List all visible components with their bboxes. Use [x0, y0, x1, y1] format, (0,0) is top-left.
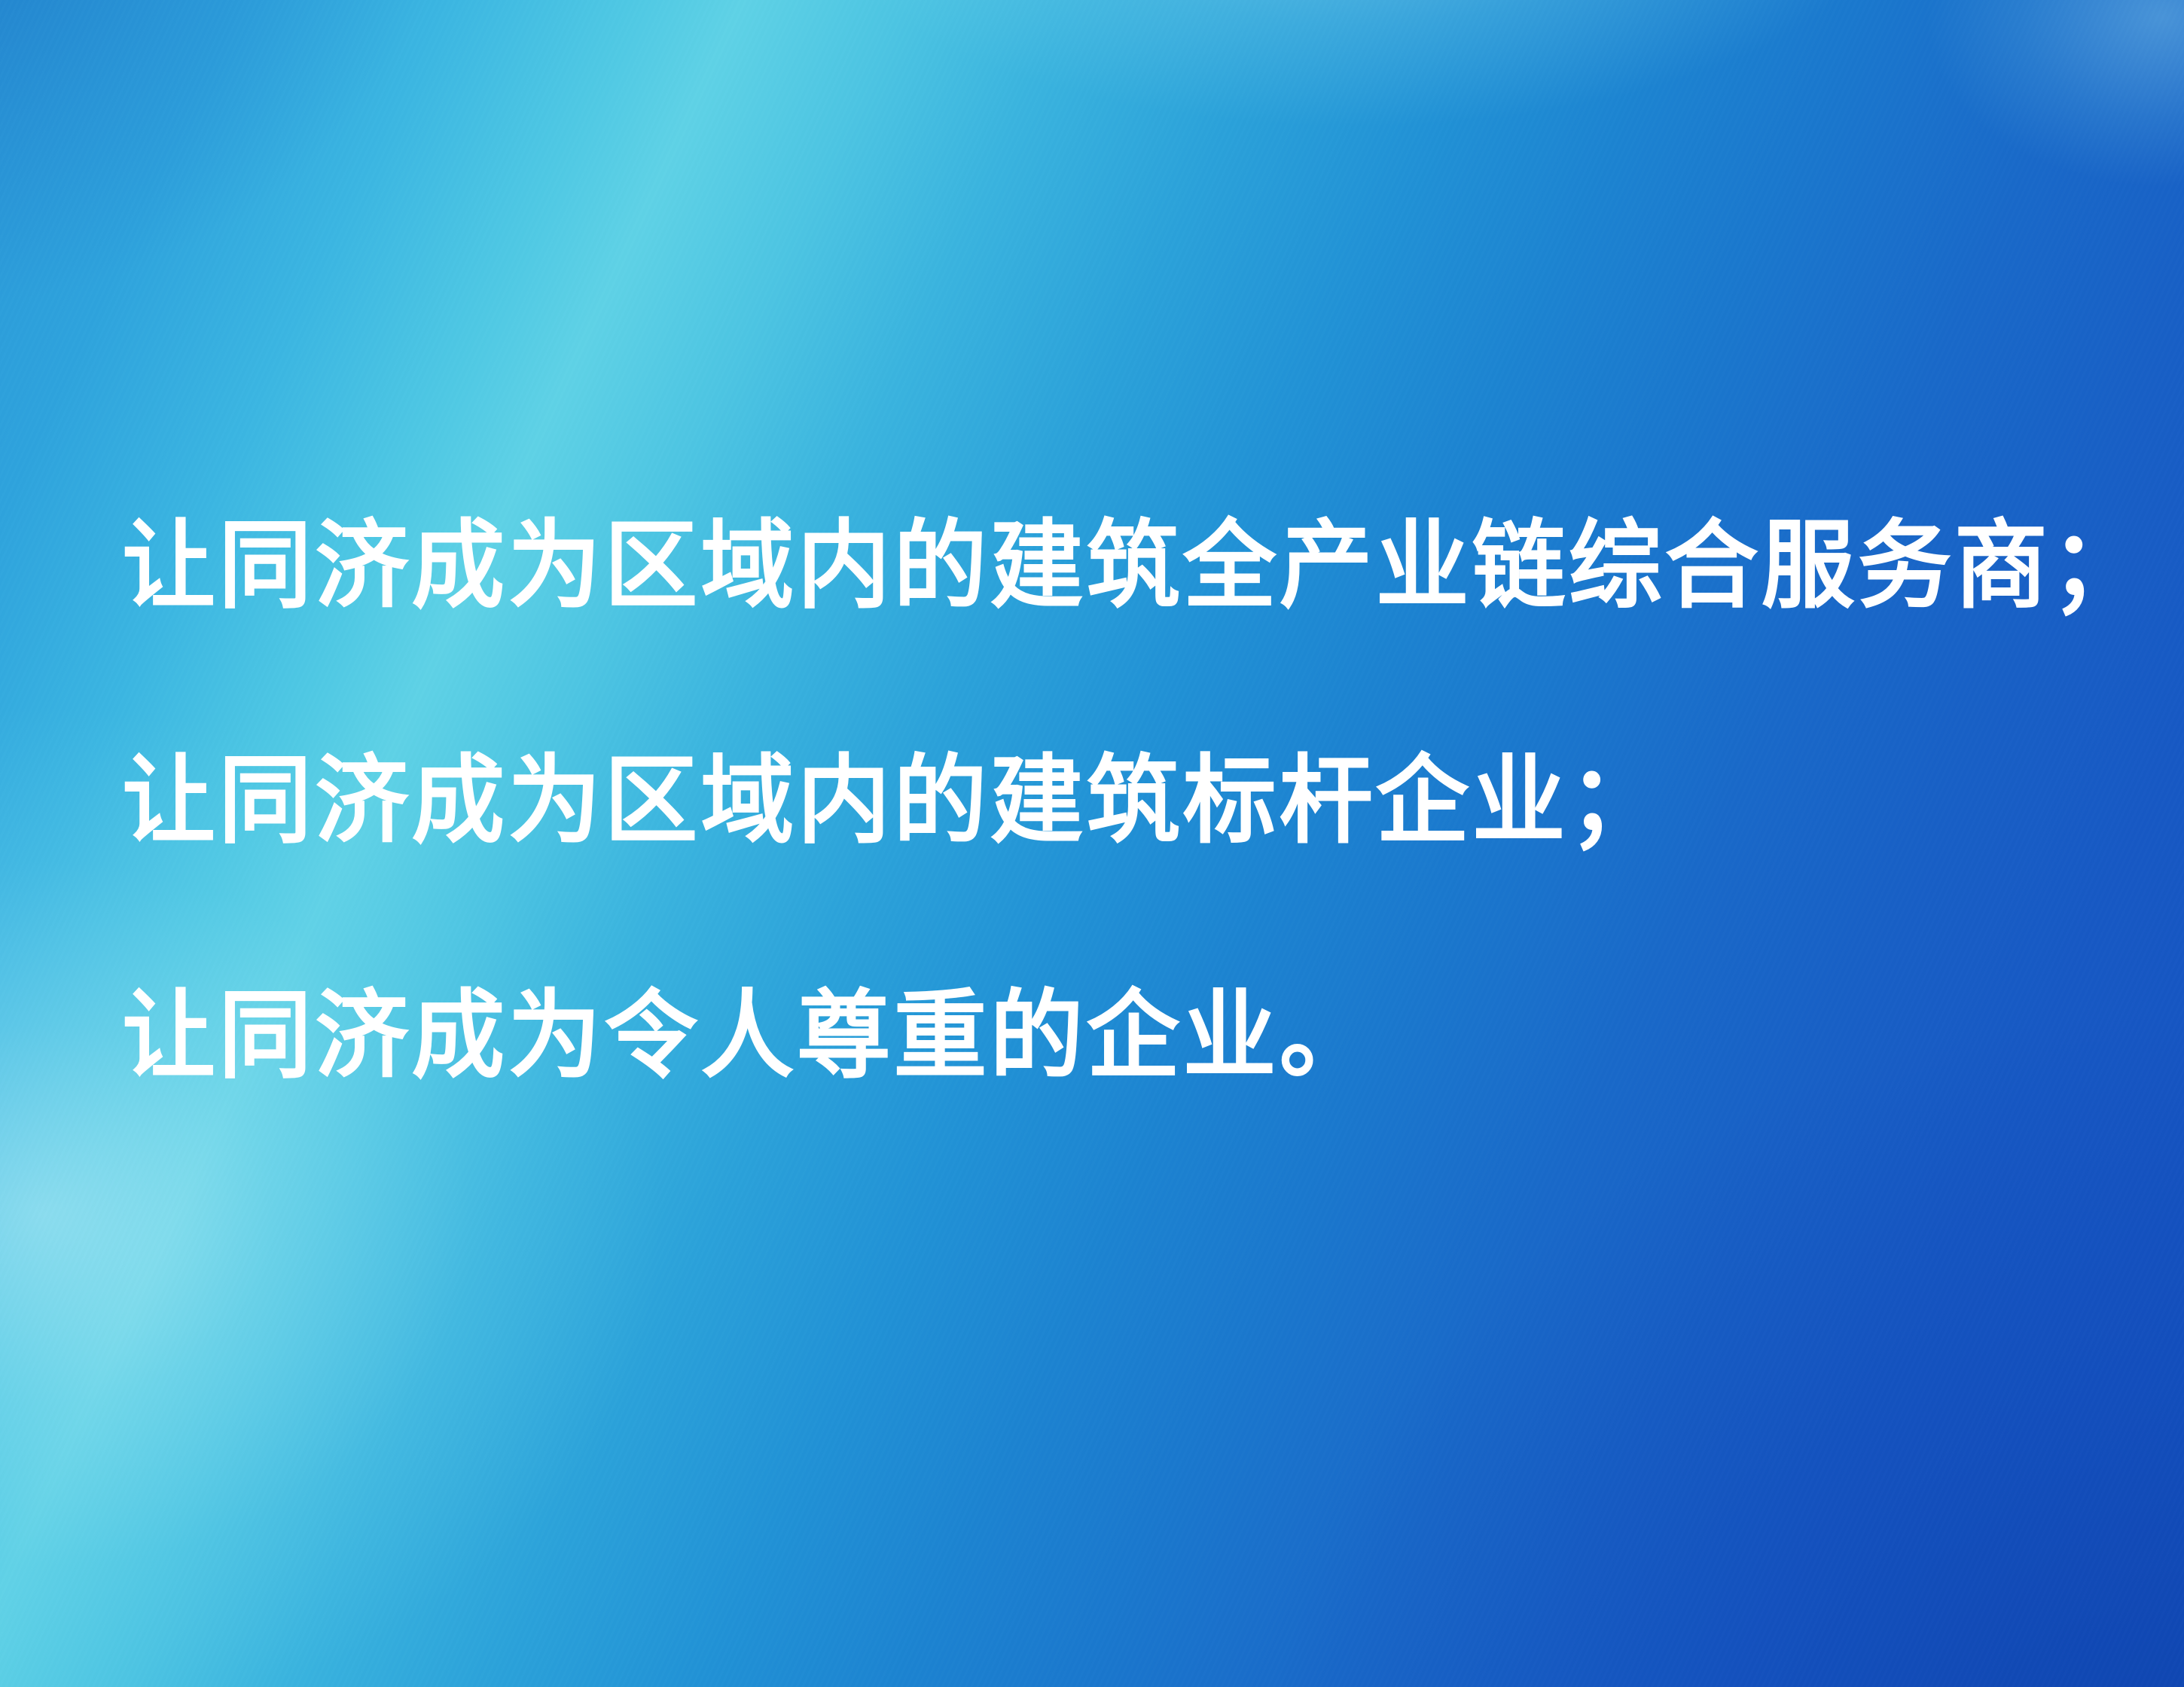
- slide-line-2: 让同济成为区域内的建筑标杆企业；: [122, 684, 2036, 919]
- slide-text-block: 让同济成为区域内的建筑全产业链综合服务商； 让同济成为区域内的建筑标杆企业； 让…: [122, 449, 2095, 1154]
- slide-line-1: 让同济成为区域内的建筑全产业链综合服务商；: [122, 449, 2036, 684]
- slide-line-3: 让同济成为令人尊重的企业。: [122, 919, 2036, 1154]
- presentation-slide: 让同济成为区域内的建筑全产业链综合服务商； 让同济成为区域内的建筑标杆企业； 让…: [0, 0, 2184, 1687]
